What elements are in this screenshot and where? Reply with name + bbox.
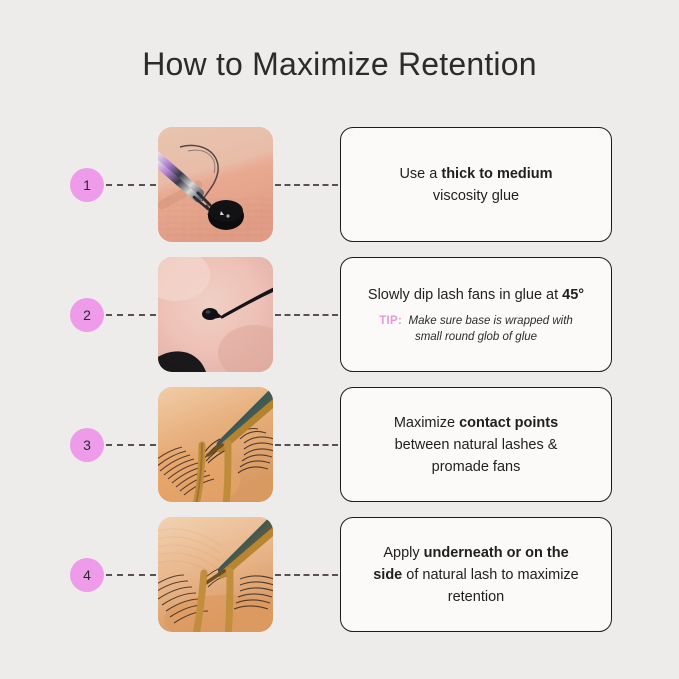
step-text-2: Slowly dip lash fans in glue at 45° xyxy=(368,284,584,306)
step-row-4: 4 xyxy=(0,517,679,632)
step-number-badge-2: 2 xyxy=(70,298,104,332)
step-number-badge-1: 1 xyxy=(70,168,104,202)
step-image-4 xyxy=(158,517,273,632)
step-number-badge-3: 3 xyxy=(70,428,104,462)
step-image-1 xyxy=(158,127,273,242)
step-card-4: Apply underneath or on theside of natura… xyxy=(340,517,612,632)
step-tip-2: TIP: Make sure base is wrapped withsmall… xyxy=(379,313,573,345)
connector-badge-to-image-4 xyxy=(106,574,156,576)
step-row-1: 1 xyxy=(0,127,679,242)
connector-badge-to-image-1 xyxy=(106,184,156,186)
connector-image-to-card-4 xyxy=(275,574,338,576)
step-image-3 xyxy=(158,387,273,502)
connector-image-to-card-1 xyxy=(275,184,338,186)
connector-badge-to-image-3 xyxy=(106,444,156,446)
connector-badge-to-image-2 xyxy=(106,314,156,316)
step-text-1: Use a thick to mediumviscosity glue xyxy=(399,163,552,207)
step-card-3: Maximize contact pointsbetween natural l… xyxy=(340,387,612,502)
tip-label-2: TIP: xyxy=(379,315,402,327)
connector-image-to-card-2 xyxy=(275,314,338,316)
step-row-2: 2 xyxy=(0,257,679,372)
step-image-2 xyxy=(158,257,273,372)
steps-list: 1 xyxy=(0,127,679,647)
tip-text-2: Make sure base is wrapped withsmall roun… xyxy=(405,315,572,343)
step-row-3: 3 xyxy=(0,387,679,502)
connector-image-to-card-3 xyxy=(275,444,338,446)
step-text-4: Apply underneath or on theside of natura… xyxy=(373,542,579,608)
step-card-2: Slowly dip lash fans in glue at 45° TIP:… xyxy=(340,257,612,372)
step-text-3: Maximize contact pointsbetween natural l… xyxy=(394,412,558,478)
page-title: How to Maximize Retention xyxy=(0,44,679,84)
step-number-badge-4: 4 xyxy=(70,558,104,592)
infographic-page: How to Maximize Retention 1 xyxy=(0,0,679,679)
step-card-1: Use a thick to mediumviscosity glue xyxy=(340,127,612,242)
